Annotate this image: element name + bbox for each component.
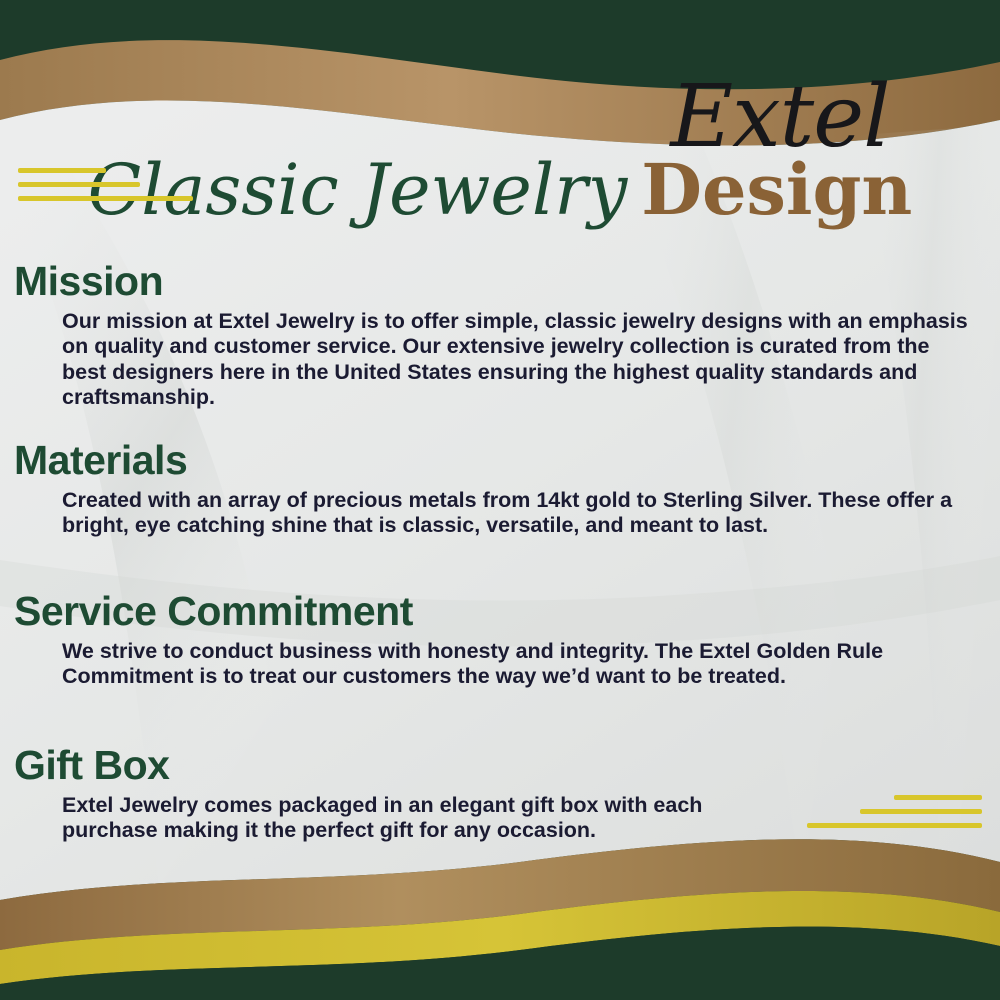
document-content: Extel Classic JewelryDesign Mission Our … bbox=[0, 0, 1000, 1000]
section-heading: Mission bbox=[14, 258, 1000, 305]
deco-line bbox=[18, 182, 140, 187]
section-body: Our mission at Extel Jewelry is to offer… bbox=[62, 309, 970, 410]
section-heading: Materials bbox=[14, 437, 1000, 484]
section-mission: Mission Our mission at Extel Jewelry is … bbox=[0, 258, 1000, 410]
section-service-commitment: Service Commitment We strive to conduct … bbox=[0, 588, 1000, 690]
page-title-part2: Design bbox=[641, 148, 912, 231]
section-body: We strive to conduct business with hones… bbox=[62, 639, 940, 690]
section-body: Extel Jewelry comes packaged in an elega… bbox=[62, 793, 750, 844]
deco-line bbox=[18, 168, 106, 173]
section-materials: Materials Created with an array of preci… bbox=[0, 437, 1000, 539]
section-heading: Service Commitment bbox=[14, 588, 1000, 635]
decorative-lines-left bbox=[18, 168, 193, 210]
section-gift-box: Gift Box Extel Jewelry comes packaged in… bbox=[0, 742, 1000, 844]
infographic-canvas: Extel Classic JewelryDesign Mission Our … bbox=[0, 0, 1000, 1000]
section-body: Created with an array of precious metals… bbox=[62, 488, 960, 539]
deco-line bbox=[18, 196, 193, 201]
section-heading: Gift Box bbox=[14, 742, 1000, 789]
